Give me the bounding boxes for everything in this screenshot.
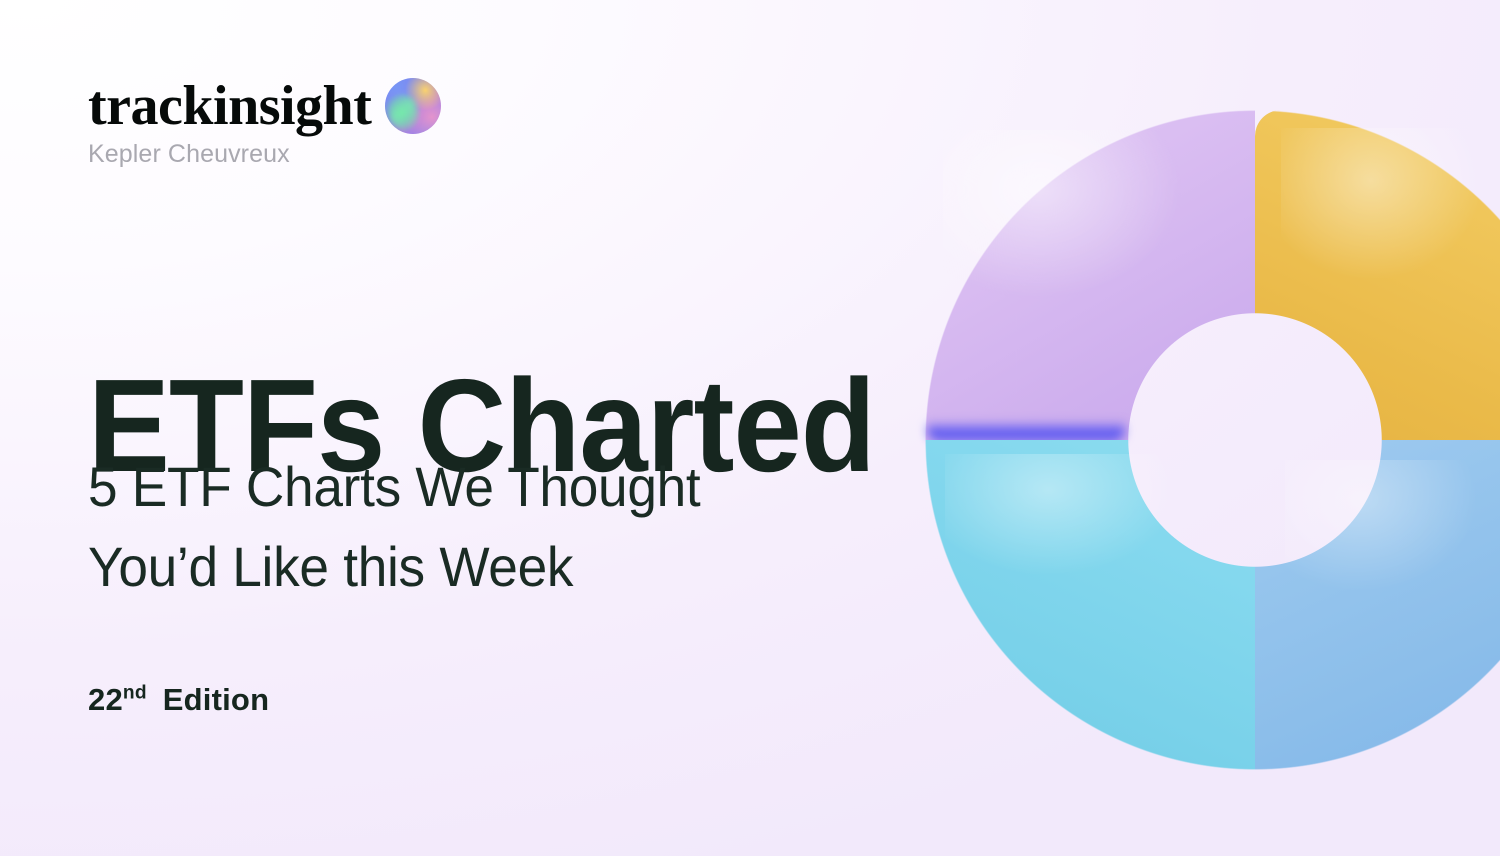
edition-ordinal-suffix: nd xyxy=(123,683,147,704)
brand-wordmark: trackinsight xyxy=(88,78,371,134)
page-subtitle: 5 ETF Charts We Thought You’d Like this … xyxy=(88,447,839,606)
donut-slice-bottom-left-body xyxy=(925,440,1255,770)
donut-slice-bottom-left xyxy=(925,440,1255,770)
page-subtitle-line-2: You’d Like this Week xyxy=(88,527,839,607)
content-column: trackinsight Kepler Cheuvreux ETFs Chart… xyxy=(88,0,908,856)
logo-row: trackinsight xyxy=(88,78,548,134)
page-subtitle-line-1: 5 ETF Charts We Thought xyxy=(88,447,839,527)
edition-word: Edition xyxy=(163,682,269,717)
donut-slice-top-right xyxy=(1255,110,1500,440)
donut-slice-bottom-right-body xyxy=(1255,440,1500,770)
parent-company-label: Kepler Cheuvreux xyxy=(88,140,548,169)
donut-slice-top-right-body xyxy=(1255,110,1500,440)
donut-slice-top-left xyxy=(925,110,1255,440)
donut-slice-bottom-right xyxy=(1255,440,1500,770)
cover-slide: trackinsight Kepler Cheuvreux ETFs Chart… xyxy=(0,0,1500,856)
donut-slice-top-left-body xyxy=(925,110,1255,440)
gradient-sphere-icon xyxy=(385,78,441,134)
edition-number: 22 xyxy=(88,682,123,717)
edition-label: 22ndEdition xyxy=(88,682,269,718)
brand-logo[interactable]: trackinsight Kepler Cheuvreux xyxy=(88,78,548,169)
